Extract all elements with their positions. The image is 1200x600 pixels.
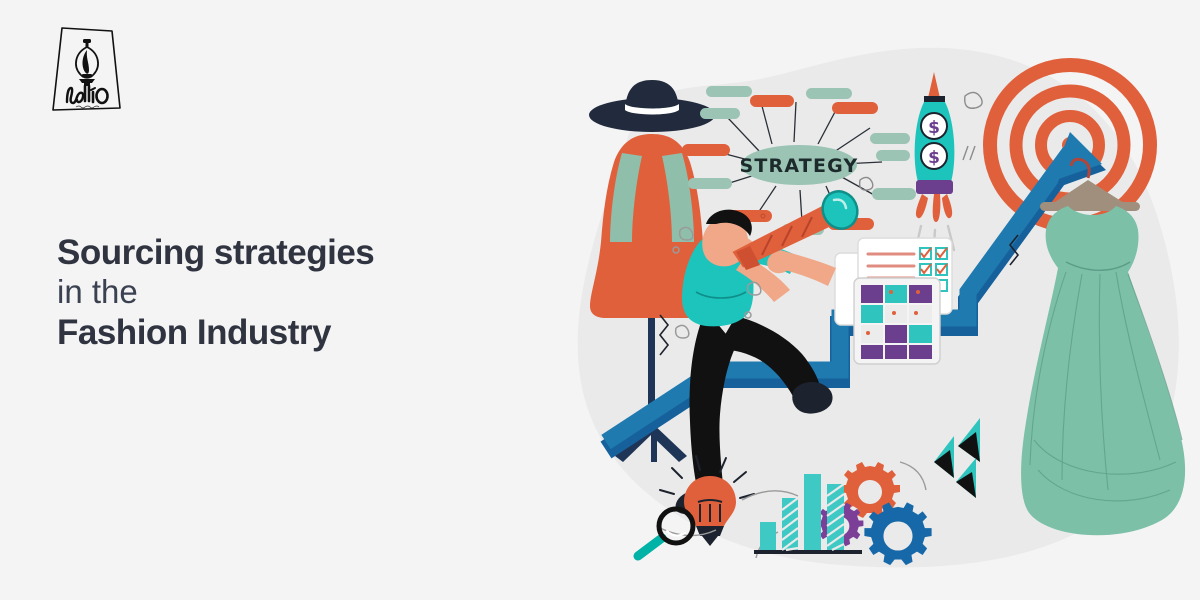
chart-bar-3 [804, 474, 821, 550]
chart-baseline [754, 550, 862, 554]
logo-icon [46, 22, 128, 114]
rocket-band [916, 180, 953, 194]
logo[interactable]: lal10 fabric india store [46, 22, 128, 114]
hero-illustration: STRATEGY $ $ [510, 10, 1200, 590]
chart-bar-1 [760, 522, 776, 550]
logo-wordmark [67, 86, 108, 103]
strategy-label: STRATEGY [740, 155, 859, 177]
logo-tagline [76, 106, 99, 108]
poster-root: lal10 fabric india store Sourcing strate… [0, 0, 1200, 600]
headline-line-2: in the [57, 273, 517, 312]
chart-bar-2 [782, 498, 798, 550]
page-title: Sourcing strategies in the Fashion Indus… [57, 232, 517, 354]
rocket-coin-symbol-1: $ [928, 118, 940, 138]
swatch-grid-card [854, 278, 940, 364]
magnifier-handle [638, 538, 662, 556]
rocket-coin-symbol-2: $ [928, 148, 940, 168]
lamp-icon [76, 39, 98, 86]
headline-line-3: Fashion Industry [57, 312, 517, 353]
chart-bar-4 [827, 484, 844, 550]
headline-line-1: Sourcing strategies [57, 232, 517, 273]
